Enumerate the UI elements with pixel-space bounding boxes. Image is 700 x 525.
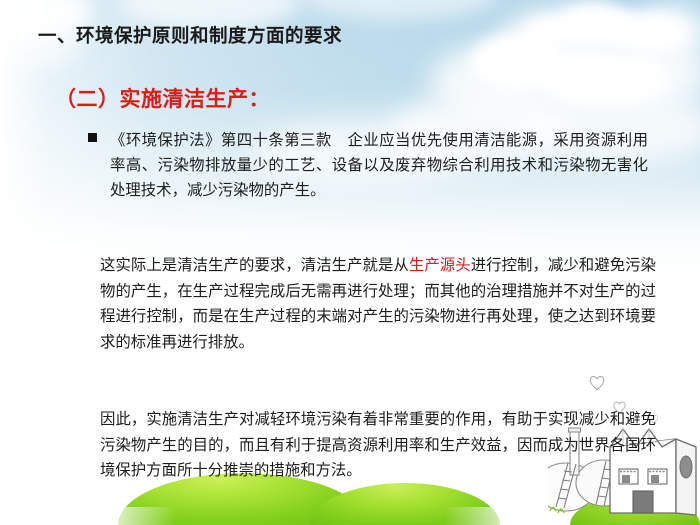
- heart-icon: [588, 374, 606, 391]
- highlighted-term: 生产源头: [409, 257, 471, 274]
- hill-haze: [100, 507, 520, 525]
- page-title: 一、环境保护原则和制度方面的要求: [38, 22, 342, 48]
- body-paragraph-3: 因此，实施清洁生产对减轻环境污染有着非常重要的作用，有助于实现减少和避免污染物产…: [100, 407, 656, 484]
- paragraph-2-before-highlight: 这实际上是清洁生产的要求，清洁生产就是从: [100, 257, 409, 274]
- bullet-paragraph-block: 《环境保护法》第四十条第三款 企业应当优先使用清洁能源，采用资源利用率高、污染物…: [88, 128, 648, 203]
- slide-canvas: 一、环境保护原则和制度方面的要求 （二）实施清洁生产： 《环境保护法》第四十条第…: [0, 0, 700, 525]
- square-bullet-icon: [88, 133, 97, 142]
- section-subtitle: （二）实施清洁生产：: [55, 83, 270, 113]
- body-paragraph-2: 这实际上是清洁生产的要求，清洁生产就是从生产源头进行控制，减少和避免污染物的产生…: [100, 253, 656, 355]
- bullet-paragraph-text: 《环境保护法》第四十条第三款 企业应当优先使用清洁能源，采用资源利用率高、污染物…: [110, 128, 648, 203]
